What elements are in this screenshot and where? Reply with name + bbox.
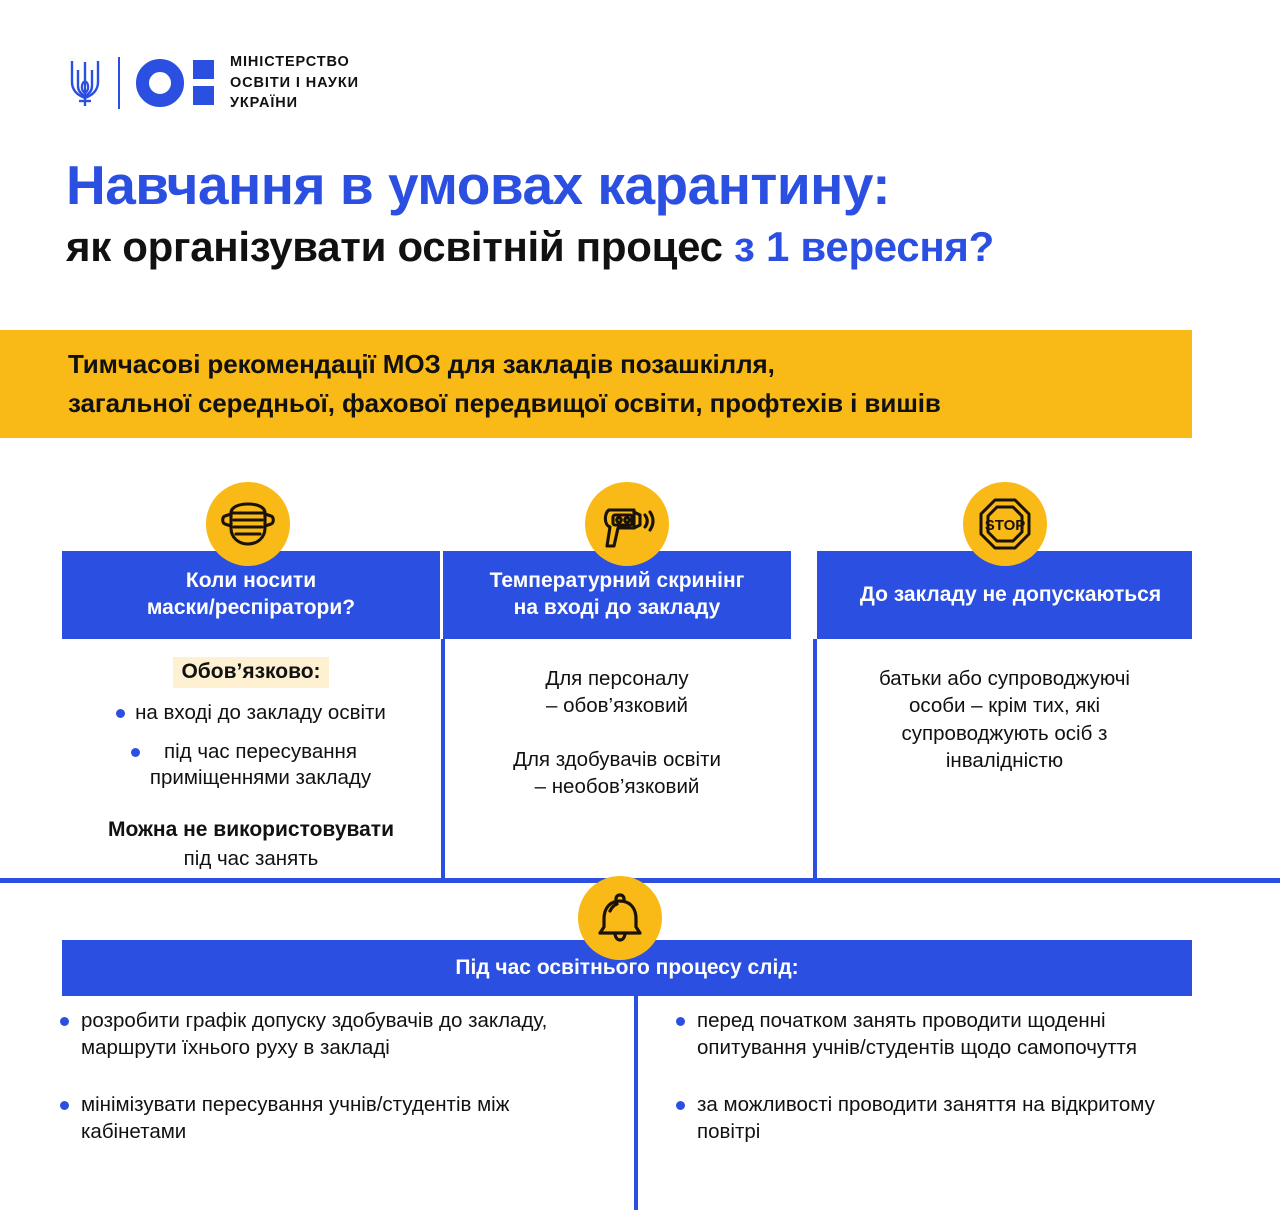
banner-line-1: Тимчасові рекомендації МОЗ для закладів …: [68, 345, 1192, 384]
mask-bullet-1: на вході до закладу освіти: [135, 700, 386, 727]
column-not-admitted: До закладу не допускаються батьки або су…: [817, 551, 1192, 774]
not-admitted-l2: особи – крім тих, які: [817, 692, 1192, 719]
bottom-left-item-2: мінімізувати пересування учнів/студентів…: [81, 1092, 620, 1146]
bottom-column-divider: [634, 996, 638, 1210]
title-line-2-accent: з 1 вересня?: [734, 223, 994, 270]
ministry-name: МІНІСТЕРСТВО ОСВІТИ І НАУКИ УКРАЇНИ: [230, 52, 359, 114]
column-divider-1: [441, 639, 445, 882]
column-divider-2: [813, 639, 817, 882]
stop-sign-icon: STOP: [963, 482, 1047, 566]
temperature-staff-l2: – обов’язковий: [443, 692, 791, 719]
ministry-name-line2: ОСВІТИ І НАУКИ: [230, 73, 359, 94]
mandatory-highlight: Обов’язково:: [173, 657, 328, 688]
bottom-list-left: розробити графік допуску здобувачів до з…: [60, 1008, 620, 1145]
bottom-left-item-1: розробити графік допуску здобувачів до з…: [81, 1008, 620, 1062]
title-line-2-plain: як організувати освітній процес: [66, 223, 734, 270]
ministry-name-line1: МІНІСТЕРСТВО: [230, 52, 359, 73]
mask-optional-strong: Можна не використовувати: [62, 816, 440, 844]
mask-bullet-2-l2: приміщеннями закладу: [150, 766, 371, 789]
temperature-staff: Для персоналу – обов’язковий: [443, 665, 791, 720]
banner-line-2: загальної середньої, фахової передвищої …: [68, 384, 1192, 423]
logo-divider: [118, 57, 120, 109]
bottom-right-item-1: перед початком занять проводити щоденні …: [697, 1008, 1196, 1062]
bullet-dot-icon: [60, 1017, 69, 1026]
mon-logo-square-top: [193, 60, 214, 79]
bullet-dot-icon: [131, 748, 140, 757]
ministry-name-line3: УКРАЇНИ: [230, 93, 359, 114]
list-item: мінімізувати пересування учнів/студентів…: [60, 1092, 620, 1146]
column-masks-heading-l2: маски/респіратори?: [147, 595, 355, 622]
column-masks-heading-l1: Коли носити: [147, 568, 355, 595]
column-temperature-screening: Температурний скринінг на вході до закла…: [443, 551, 791, 800]
list-item: розробити графік допуску здобувачів до з…: [60, 1008, 620, 1062]
not-admitted-l1: батьки або супроводжуючі: [817, 665, 1192, 692]
mon-logo-squares: [193, 60, 214, 105]
list-item: за можливості проводити заняття на відкр…: [676, 1092, 1196, 1146]
column-temperature-heading-l1: Температурний скринінг: [490, 568, 745, 595]
mask-bullet-2-l1: під час пересування: [164, 740, 357, 763]
three-column-section: Коли носити маски/респіратори? Обов’язко…: [0, 551, 1192, 881]
ministry-logo: МІНІСТЕРСТВО ОСВІТИ І НАУКИ УКРАЇНИ: [68, 52, 359, 114]
list-item: перед початком занять проводити щоденні …: [676, 1008, 1196, 1062]
bullet-dot-icon: [676, 1101, 685, 1110]
not-admitted-text: батьки або супроводжуючі особи – крім ти…: [817, 665, 1192, 774]
bullet-dot-icon: [676, 1017, 685, 1026]
list-item: під час пересування приміщеннями закладу: [62, 739, 440, 792]
subtitle-banner: Тимчасові рекомендації МОЗ для закладів …: [0, 330, 1192, 438]
mon-logo-ring: [136, 59, 184, 107]
mon-logo-square-bottom: [193, 86, 214, 105]
mask-optional-plain: під час занять: [62, 845, 440, 872]
bottom-right-item-2: за можливості проводити заняття на відкр…: [697, 1092, 1196, 1146]
ukraine-trident-icon: [68, 56, 102, 110]
column-not-admitted-body: батьки або супроводжуючі особи – крім ти…: [817, 665, 1192, 774]
infrared-thermometer-icon: [585, 482, 669, 566]
not-admitted-l3: супроводжують осіб з: [817, 720, 1192, 747]
temperature-students: Для здобувачів освіти – необов’язковий: [443, 746, 791, 801]
bullet-dot-icon: [116, 709, 125, 718]
title-line-1: Навчання в умовах карантину:: [66, 156, 1226, 214]
column-temperature-body: Для персоналу – обов’язковий Для здобува…: [443, 665, 791, 800]
bullet-dot-icon: [60, 1101, 69, 1110]
temperature-staff-l1: Для персоналу: [443, 665, 791, 692]
temperature-students-l2: – необов’язковий: [443, 773, 791, 800]
column-not-admitted-heading-l1: До закладу не допускаються: [860, 582, 1161, 609]
column-temperature-heading-l2: на вході до закладу: [490, 595, 745, 622]
page-title: Навчання в умовах карантину: як організу…: [66, 156, 1226, 270]
temperature-students-l1: Для здобувачів освіти: [443, 746, 791, 773]
mon-logo-mark: [136, 59, 214, 107]
column-masks-body: Обов’язково: на вході до закладу освіти …: [62, 639, 440, 872]
face-mask-icon: [206, 482, 290, 566]
svg-text:STOP: STOP: [985, 517, 1026, 534]
column-masks: Коли носити маски/респіратори? Обов’язко…: [62, 551, 440, 872]
bell-icon: [578, 876, 662, 960]
not-admitted-l4: інвалідністю: [817, 747, 1192, 774]
list-item: на вході до закладу освіти: [62, 700, 440, 727]
title-line-2: як організувати освітній процес з 1 вере…: [66, 224, 1226, 269]
mask-bullet-2: під час пересування приміщеннями закладу: [150, 739, 371, 792]
bottom-list-right: перед початком занять проводити щоденні …: [676, 1008, 1196, 1145]
